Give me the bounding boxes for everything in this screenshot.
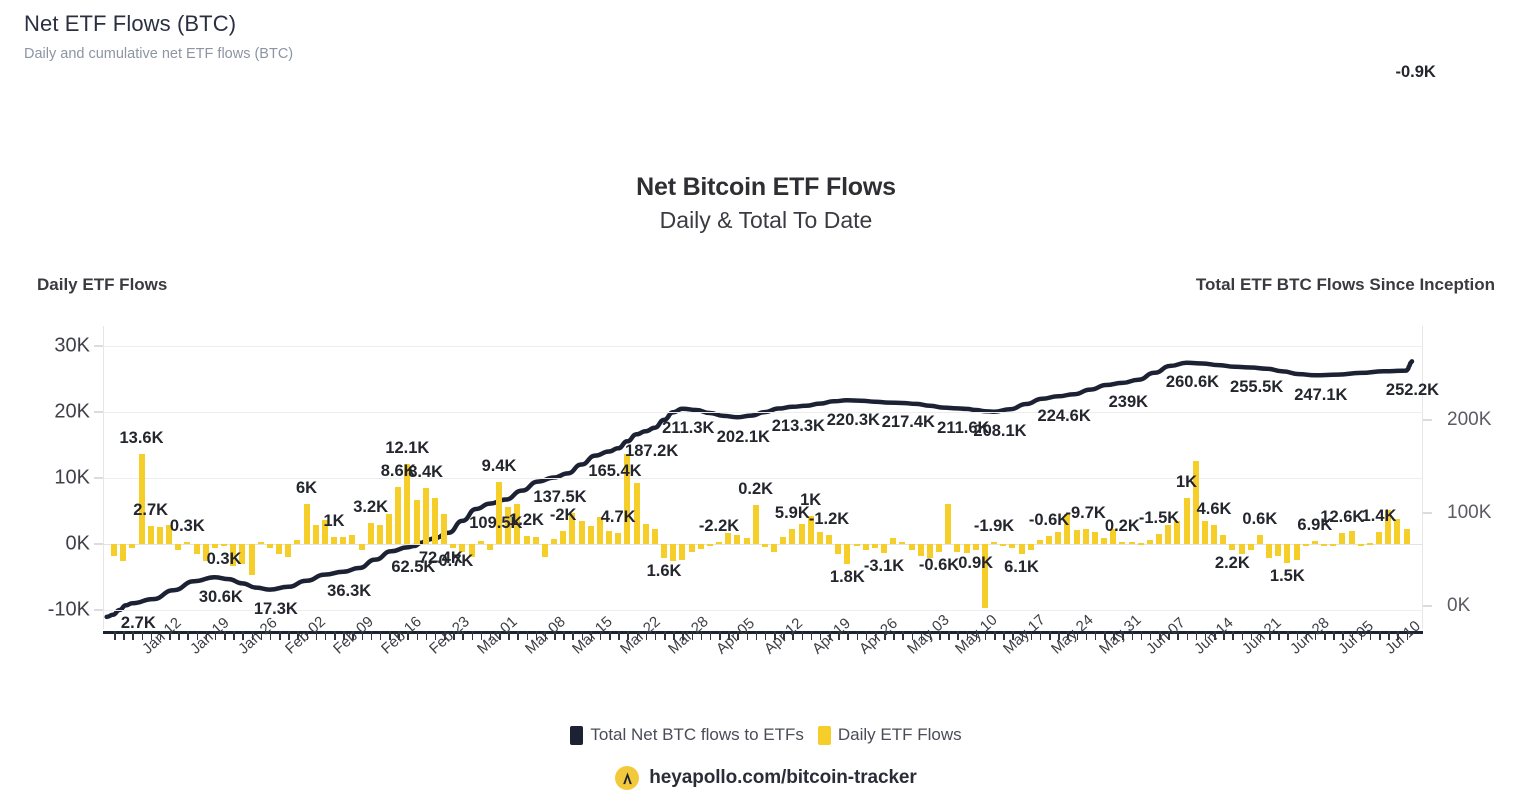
daily-flow-bar[interactable] — [313, 525, 319, 544]
x-axis-tickmark — [618, 631, 620, 640]
bar-value-label: 1K — [1176, 473, 1197, 492]
daily-flow-bar[interactable] — [964, 544, 970, 553]
daily-flow-bar[interactable] — [1303, 544, 1309, 546]
right-axis-tick-label: 200K — [1447, 409, 1527, 431]
daily-flow-bar[interactable] — [1358, 544, 1364, 546]
right-axis-heading: Total ETF BTC Flows Since Inception — [1196, 275, 1495, 295]
x-axis-tickmark — [1095, 631, 1097, 640]
bar-value-label: 0.6K — [1242, 510, 1277, 529]
chart-footer: heyapollo.com/bitcoin-tracker — [0, 766, 1532, 790]
daily-flow-bar[interactable] — [1074, 530, 1080, 544]
daily-flow-bar[interactable] — [844, 544, 850, 564]
daily-flow-bar[interactable] — [918, 544, 924, 557]
daily-flow-bar[interactable] — [1211, 525, 1217, 544]
left-axis-tick-label: -10K — [18, 598, 90, 621]
daily-flow-bar[interactable] — [258, 542, 264, 544]
daily-flow-bar[interactable] — [249, 544, 255, 575]
x-axis-tickmark — [1232, 631, 1234, 640]
daily-flow-bar[interactable] — [441, 514, 447, 544]
left-axis-tickmark — [94, 412, 103, 413]
plot-area — [103, 326, 1423, 629]
daily-flow-bar[interactable] — [799, 524, 805, 544]
x-axis-tickmark — [1333, 631, 1335, 640]
x-axis-tickmark — [756, 631, 758, 640]
daily-flow-bar[interactable] — [533, 537, 539, 544]
bar-value-label: -0.6K — [1029, 511, 1069, 530]
cumulative-value-label: 224.6K — [1038, 407, 1091, 426]
x-axis-tickmark — [517, 631, 519, 640]
daily-flow-bar[interactable] — [1083, 529, 1089, 543]
daily-flow-bar[interactable] — [1239, 544, 1245, 554]
cumulative-value-label: 247.1K — [1294, 386, 1347, 405]
cumulative-value-label: 137.5K — [533, 488, 586, 507]
daily-flow-bar[interactable] — [551, 539, 557, 544]
daily-flow-bar[interactable] — [496, 482, 502, 544]
x-axis-tickmark — [1049, 631, 1051, 640]
daily-flow-bar[interactable] — [194, 544, 200, 555]
cumulative-value-label: 165.4K — [588, 462, 641, 481]
left-axis-tickmark — [94, 346, 103, 347]
daily-flow-bar[interactable] — [863, 544, 869, 550]
daily-flow-bar[interactable] — [111, 544, 117, 556]
daily-flow-bar[interactable] — [579, 521, 585, 543]
cumulative-value-label: 202.1K — [717, 428, 770, 447]
daily-flow-bar[interactable] — [936, 544, 942, 553]
daily-flow-bar[interactable] — [1019, 544, 1025, 554]
daily-flow-bar[interactable] — [899, 542, 905, 544]
apollo-logo-icon — [615, 766, 639, 790]
daily-flow-bar[interactable] — [1404, 529, 1410, 543]
left-axis-tickmark — [94, 609, 103, 610]
chart-legend: Total Net BTC flows to ETFs Daily ETF Fl… — [0, 725, 1532, 745]
cumulative-value-label: 109.5K — [469, 514, 522, 533]
x-axis-tickmark — [132, 631, 134, 640]
daily-flow-bar[interactable] — [129, 544, 135, 548]
bar-value-label: -3.1K — [864, 557, 904, 576]
x-axis-tickmark — [187, 631, 189, 640]
bar-value-label: 13.6K — [119, 429, 163, 448]
daily-flow-bar[interactable] — [982, 544, 988, 608]
x-axis-tickmark — [1242, 631, 1244, 640]
bar-value-label: 3.2K — [353, 498, 388, 517]
bar-value-label: -1.9K — [974, 517, 1014, 536]
daily-flow-bar[interactable] — [826, 535, 832, 544]
page-subtitle: Daily and cumulative net ETF flows (BTC) — [24, 45, 1532, 64]
chart-title: Net Bitcoin ETF Flows — [0, 173, 1532, 202]
daily-flow-bar[interactable] — [679, 544, 685, 560]
daily-flow-bar[interactable] — [615, 533, 621, 544]
bar-value-label: 0.3K — [170, 517, 205, 536]
bar-value-label: -1.2K — [809, 510, 849, 529]
bar-value-label: 1.8K — [830, 568, 865, 587]
daily-flow-bar[interactable] — [780, 537, 786, 544]
daily-flow-bar[interactable] — [909, 544, 915, 551]
chart-container: Net Bitcoin ETF Flows Daily & Total To D… — [0, 63, 1532, 703]
cumulative-value-label: 30.6K — [199, 588, 243, 607]
bar-value-label: 0.2K — [738, 480, 773, 499]
daily-flow-bar[interactable] — [148, 526, 154, 544]
daily-flow-bar[interactable] — [1294, 544, 1300, 560]
cumulative-value-label: 213.3K — [772, 417, 825, 436]
bar-value-label: 1K — [800, 491, 821, 510]
daily-flow-bar[interactable] — [359, 544, 365, 550]
daily-flow-bar[interactable] — [753, 505, 759, 544]
daily-flow-bar[interactable] — [954, 544, 960, 552]
daily-flow-bar[interactable] — [1248, 544, 1254, 551]
bar-value-label: -1.5K — [1139, 509, 1179, 528]
daily-flow-bar[interactable] — [285, 544, 291, 557]
daily-flow-bar[interactable] — [1101, 538, 1107, 544]
bar-value-label: 12.6K — [1320, 508, 1364, 527]
x-axis-tickmark — [1379, 631, 1381, 640]
daily-flow-bar[interactable] — [1147, 540, 1153, 544]
x-axis-tickmark — [1278, 631, 1280, 640]
daily-flow-bar[interactable] — [744, 538, 750, 544]
daily-flow-bar[interactable] — [432, 498, 438, 544]
daily-flow-bar[interactable] — [991, 542, 997, 544]
daily-flow-bar[interactable] — [835, 544, 841, 554]
daily-flow-bar[interactable] — [386, 514, 392, 544]
bar-value-label: 2.7K — [133, 501, 168, 520]
daily-flow-bar[interactable] — [1266, 544, 1272, 558]
x-axis-tickmark — [1287, 631, 1289, 640]
gridline — [103, 346, 1423, 347]
daily-flow-bar[interactable] — [1156, 534, 1162, 544]
left-axis-tick-label: 30K — [18, 335, 90, 358]
daily-flow-bar[interactable] — [1339, 533, 1345, 544]
x-axis-tickmark — [811, 631, 813, 640]
legend-bar-swatch-icon — [818, 726, 831, 745]
daily-flow-bar[interactable] — [817, 532, 823, 544]
x-axis-tickmark — [426, 631, 428, 640]
page-header: Net ETF Flows (BTC) Daily and cumulative… — [0, 0, 1532, 63]
daily-flow-bar[interactable] — [670, 544, 676, 561]
daily-flow-bar[interactable] — [478, 541, 484, 544]
daily-flow-bar[interactable] — [377, 525, 383, 543]
bar-value-label: 9.4K — [482, 457, 517, 476]
daily-flow-bar[interactable] — [120, 544, 126, 561]
x-axis-tickmark — [233, 631, 235, 640]
daily-flow-bar[interactable] — [1349, 531, 1355, 544]
right-axis-tickmark — [1423, 512, 1432, 513]
bar-value-label: 8.4K — [408, 463, 443, 482]
daily-flow-bar[interactable] — [184, 542, 190, 544]
daily-flow-bar[interactable] — [221, 544, 227, 546]
right-axis-tick-label: 0K — [1447, 595, 1527, 617]
legend-label-daily: Daily ETF Flows — [838, 725, 962, 745]
daily-flow-bar[interactable] — [139, 454, 145, 544]
daily-flow-bar[interactable] — [1046, 536, 1052, 544]
daily-flow-bar[interactable] — [1165, 525, 1171, 543]
daily-flow-bar[interactable] — [175, 544, 181, 551]
cumulative-value-label: 252.2K — [1386, 381, 1439, 400]
daily-flow-bar[interactable] — [1037, 540, 1043, 544]
x-axis-tickmark — [857, 631, 859, 640]
daily-flow-bar[interactable] — [395, 487, 401, 544]
legend-item-total: Total Net BTC flows to ETFs — [570, 725, 804, 745]
daily-flow-bar[interactable] — [368, 523, 374, 544]
x-axis-tickmark — [472, 631, 474, 640]
daily-flow-bar[interactable] — [973, 544, 979, 551]
cumulative-value-label: 220.3K — [827, 411, 880, 430]
daily-flow-bar[interactable] — [945, 504, 951, 544]
cumulative-value-label: 260.6K — [1166, 373, 1219, 392]
daily-flow-bar[interactable] — [212, 544, 218, 548]
bar-value-label: 1K — [323, 512, 344, 531]
daily-flow-bar[interactable] — [1129, 542, 1135, 544]
right-axis-tick-label: 100K — [1447, 502, 1527, 524]
cumulative-value-label: 239K — [1109, 393, 1148, 412]
daily-flow-bar[interactable] — [872, 544, 878, 548]
daily-flow-bar[interactable] — [771, 544, 777, 552]
left-axis-tick-label: 0K — [18, 532, 90, 555]
daily-flow-bar[interactable] — [707, 544, 713, 546]
left-axis-tick-label: 10K — [18, 466, 90, 489]
cumulative-value-label: 255.5K — [1230, 378, 1283, 397]
daily-flow-bar[interactable] — [1202, 521, 1208, 544]
daily-flow-bar[interactable] — [643, 524, 649, 544]
bar-value-label: 0.9K — [958, 554, 993, 573]
daily-flow-bar[interactable] — [1275, 544, 1281, 556]
legend-label-total: Total Net BTC flows to ETFs — [590, 725, 804, 745]
x-axis-tickmark — [902, 631, 904, 640]
bar-value-label: 6.1K — [1004, 558, 1039, 577]
daily-flow-bar[interactable] — [1257, 535, 1263, 544]
daily-flow-bar[interactable] — [1284, 544, 1290, 563]
bar-value-label: 1.4K — [1362, 507, 1397, 526]
bar-value-label: -2K — [550, 506, 577, 525]
x-axis-tickmark — [948, 631, 950, 640]
daily-flow-bar[interactable] — [1220, 535, 1226, 544]
x-axis-tickmark — [142, 631, 144, 640]
bar-value-label: -0.9K — [1395, 63, 1435, 82]
x-axis-tickmark — [1040, 631, 1042, 640]
daily-flow-bar[interactable] — [606, 531, 612, 544]
x-axis-tickmark — [123, 631, 125, 640]
bar-value-label: 1.5K — [1270, 567, 1305, 586]
daily-flow-bar[interactable] — [423, 488, 429, 543]
daily-flow-bar[interactable] — [487, 544, 493, 550]
footer-url[interactable]: heyapollo.com/bitcoin-tracker — [649, 767, 916, 789]
daily-flow-bar[interactable] — [1092, 532, 1098, 544]
daily-flow-bar[interactable] — [542, 544, 548, 557]
cumulative-value-label: 208.1K — [973, 422, 1026, 441]
x-axis-tickmark — [1187, 631, 1189, 640]
x-axis-tickmark — [609, 631, 611, 640]
daily-flow-bar[interactable] — [414, 500, 420, 544]
daily-flow-bar[interactable] — [304, 504, 310, 544]
daily-flow-bar[interactable] — [716, 542, 722, 544]
daily-flow-bar[interactable] — [689, 544, 695, 552]
daily-flow-bar[interactable] — [276, 544, 282, 554]
bar-value-label: -2.2K — [699, 517, 739, 536]
daily-flow-bar[interactable] — [1184, 498, 1190, 543]
daily-flow-bar[interactable] — [1138, 543, 1144, 545]
cumulative-value-label: 217.4K — [882, 413, 935, 432]
bar-value-label: 4.6K — [1197, 500, 1232, 519]
x-axis-tickmark — [710, 631, 712, 640]
daily-flow-bar[interactable] — [267, 544, 273, 549]
left-axis-tick-label: 20K — [18, 401, 90, 424]
daily-flow-bar[interactable] — [1229, 544, 1235, 550]
cumulative-value-label: 211.3K — [662, 419, 714, 438]
x-axis-tickmark — [1141, 631, 1143, 640]
daily-flow-bar[interactable] — [661, 544, 667, 558]
bar-value-label: -0.6K — [919, 556, 959, 575]
daily-flow-bar[interactable] — [854, 544, 860, 546]
daily-flow-bar[interactable] — [789, 529, 795, 543]
daily-flow-bar[interactable] — [1330, 544, 1336, 546]
bar-value-label: 6K — [296, 479, 317, 498]
legend-line-swatch-icon — [570, 726, 583, 745]
daily-flow-bar[interactable] — [698, 544, 704, 549]
x-axis-tickmark — [664, 631, 666, 640]
daily-flow-bar[interactable] — [157, 527, 163, 543]
x-axis-tickmark — [563, 631, 565, 640]
x-axis-tickmark — [178, 631, 180, 640]
x-axis-tickmark — [802, 631, 804, 640]
left-axis-tickmark — [94, 477, 103, 478]
left-axis-tickmark — [94, 543, 103, 544]
x-axis-tickmark — [994, 631, 996, 640]
daily-flow-bar[interactable] — [1028, 544, 1034, 550]
bar-value-label: 0.3K — [207, 550, 242, 569]
bar-value-label: 12.1K — [385, 439, 429, 458]
x-axis-tickmark — [279, 631, 281, 640]
daily-flow-bar[interactable] — [1000, 544, 1006, 546]
daily-flow-bar[interactable] — [1119, 542, 1125, 544]
daily-flow-bar[interactable] — [560, 531, 566, 544]
gridline — [103, 412, 1423, 413]
daily-flow-bar[interactable] — [652, 529, 658, 544]
page-title: Net ETF Flows (BTC) — [24, 10, 1532, 39]
bar-value-label: 4.7K — [601, 508, 636, 527]
right-axis-tickmark — [1423, 419, 1432, 420]
daily-flow-bar[interactable] — [890, 538, 896, 544]
daily-flow-bar[interactable] — [762, 544, 768, 547]
bar-value-label: -9.7K — [1065, 504, 1105, 523]
bar-value-label: 1.6K — [647, 562, 682, 581]
daily-flow-bar[interactable] — [1321, 544, 1327, 546]
left-axis-heading: Daily ETF Flows — [37, 275, 167, 295]
bar-value-label: 0.2K — [1105, 517, 1140, 536]
right-axis-tickmark — [1423, 606, 1432, 607]
bar-value-label: 2.2K — [1215, 554, 1250, 573]
daily-flow-bar[interactable] — [1055, 532, 1061, 544]
cumulative-value-label: 17.3K — [254, 600, 298, 619]
x-axis-tickmark — [371, 631, 373, 640]
daily-flow-bar[interactable] — [524, 536, 530, 544]
cumulative-value-label: 187.2K — [625, 442, 678, 461]
daily-flow-bar[interactable] — [881, 544, 887, 553]
daily-flow-bar[interactable] — [331, 537, 337, 544]
x-axis-tickmark — [325, 631, 327, 640]
daily-flow-bar[interactable] — [1009, 544, 1015, 549]
cumulative-value-label: 2.7K — [121, 614, 156, 633]
cumulative-value-label: 36.3K — [327, 582, 371, 601]
daily-flow-bar[interactable] — [1367, 543, 1373, 545]
x-axis-tickmark — [114, 631, 116, 640]
daily-flow-bar[interactable] — [294, 540, 300, 544]
daily-flow-bar[interactable] — [1376, 532, 1382, 544]
gridline — [103, 610, 1423, 611]
x-axis-tickmark — [380, 631, 382, 640]
chart-subtitle: Daily & Total To Date — [0, 207, 1532, 234]
daily-flow-bar[interactable] — [734, 535, 740, 544]
cumulative-value-label: 72.4K — [419, 549, 463, 568]
daily-flow-bar[interactable] — [1312, 541, 1318, 544]
daily-flow-bar[interactable] — [340, 537, 346, 544]
legend-item-daily: Daily ETF Flows — [818, 725, 962, 745]
daily-flow-bar[interactable] — [349, 535, 355, 544]
daily-flow-bar[interactable] — [588, 526, 594, 544]
